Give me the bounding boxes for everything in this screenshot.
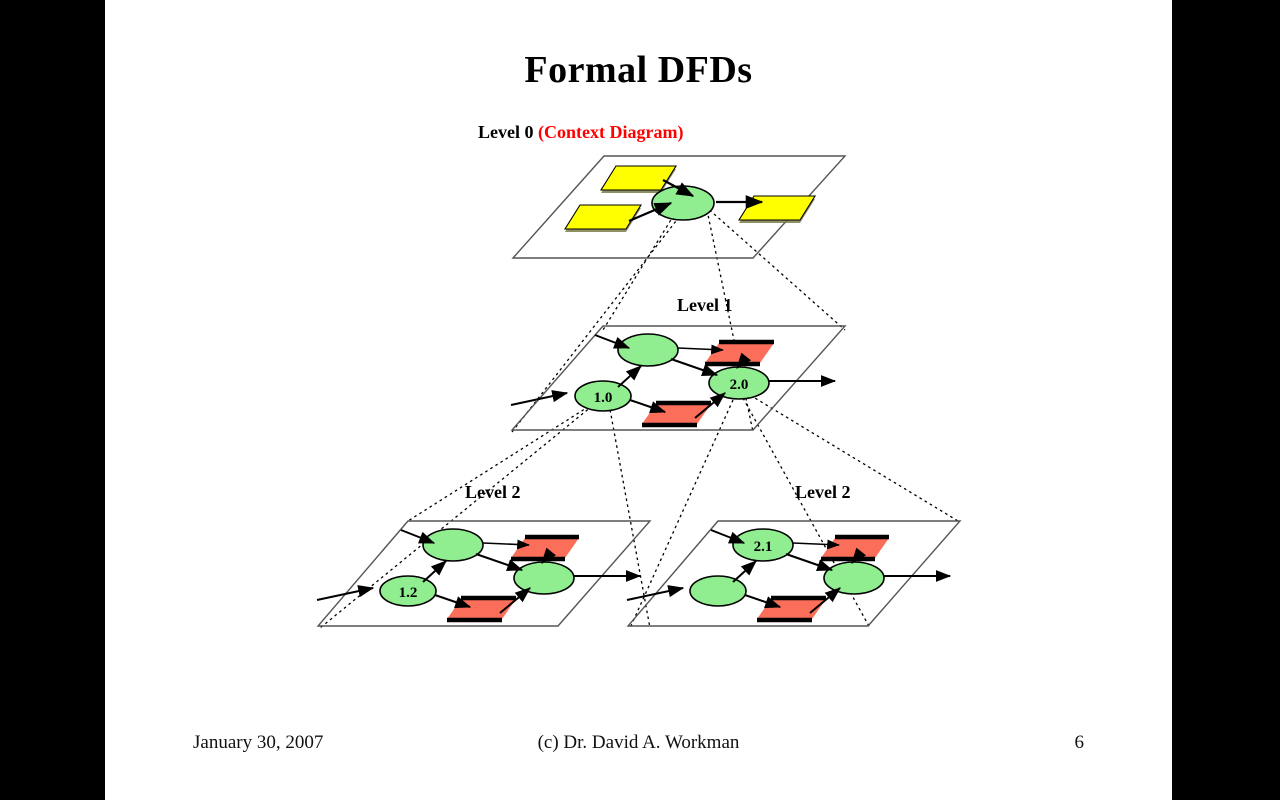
process-p1-0: 1.0 [575,381,631,411]
external-entity-e2 [565,205,641,232]
process-p1-top [618,334,678,366]
process-p-2-1-label: 2.1 [754,539,773,555]
process-p2-0: 2.0 [709,367,769,399]
process-p-2-1: 2.1 [733,529,793,561]
slide-footer: January 30, 2007 (c) Dr. David A. Workma… [105,732,1172,762]
data-store-ds3 [511,537,579,559]
letterbox-left [0,0,108,800]
decomp-line-1a [408,400,599,521]
decomp-line-0c [705,206,845,330]
external-entity-e3 [739,196,815,223]
process-p1-0-label: 1.0 [594,390,613,406]
dfd-hierarchy-diagram: Level 0 (Context Diagram) Level 1 Level … [105,0,1172,800]
process-p-l2r-right [824,562,884,594]
process-p-l2l-top [423,529,483,561]
footer-copyright: (c) Dr. David A. Workman [105,732,1172,754]
flow-l2r-in-left [627,588,683,600]
process-p-l2l-right [514,562,574,594]
plane-level-2-right: 2.1 [627,521,960,626]
letterbox-right [1172,0,1280,800]
data-store-ds1 [705,342,774,364]
decomp-line-2a [745,392,958,521]
plane-level-2-left: 1.2 [317,521,650,626]
flow-l2r-left-top [733,561,756,582]
flow-p1-0-p1top [618,366,641,387]
decomp-line-1b [320,402,597,628]
flow-l2l-12-top [423,561,446,582]
data-store-ds5 [821,537,889,559]
flow-in-p1-0 [511,393,567,405]
process-p-1-2: 1.2 [380,576,436,606]
process-p2-0-label: 2.0 [730,377,749,393]
process-p-l2r-left [690,576,746,606]
decomp-line-1c [609,404,650,628]
process-p-1-2-label: 1.2 [399,585,418,601]
slide-canvas: Formal DFDs Level 0 (Context Diagram) Le… [105,0,1172,800]
slide-stage: Formal DFDs Level 0 (Context Diagram) Le… [0,0,1280,800]
footer-page-number: 6 [1075,732,1085,754]
plane-level-0 [513,156,845,258]
flow-l2l-in-left [317,588,373,600]
plane-level-1: 1.0 2.0 [511,326,845,430]
diagram-svg: 1.0 2.0 [105,0,1172,800]
